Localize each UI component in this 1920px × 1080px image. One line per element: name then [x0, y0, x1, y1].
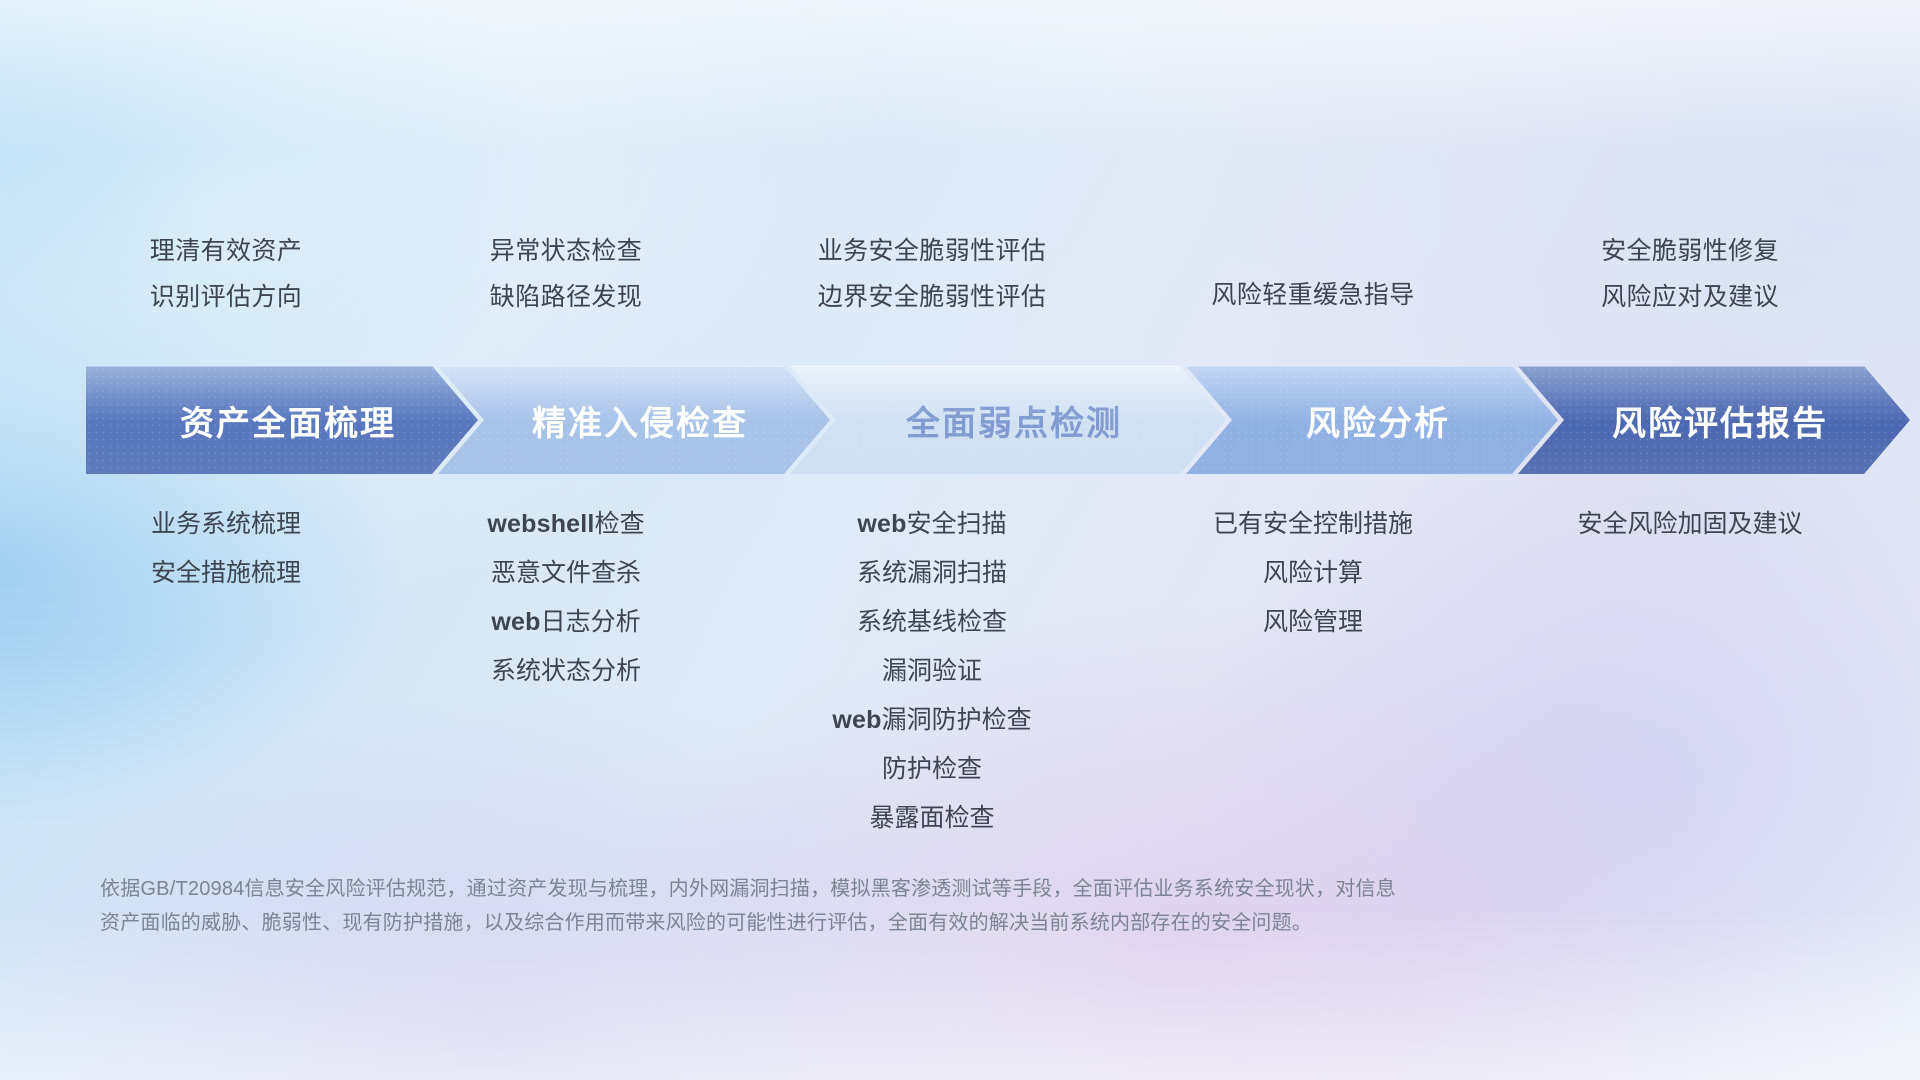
detail-list-item: web安全扫描	[832, 500, 1031, 549]
stage-chevron-intrusion-check[interactable]: 精准入侵检查	[438, 366, 830, 474]
footnote-line-1: 依据GB/T20984信息安全风险评估规范，通过资产发现与梳理，内外网漏洞扫描，…	[100, 872, 1660, 906]
top-caption-item: 识别评估方向	[150, 274, 302, 320]
process-stage-band: 资产全面梳理精准入侵检查全面弱点检测风险分析风险评估报告	[0, 366, 1920, 474]
detail-list-item: 业务系统梳理	[151, 500, 301, 549]
detail-list-weakness-detection: web安全扫描系统漏洞扫描系统基线检查漏洞验证web漏洞防护检查防护检查暴露面检…	[832, 500, 1031, 843]
stage-chevron-weakness-detection[interactable]: 全面弱点检测	[790, 366, 1226, 474]
top-caption-item: 边界安全脆弱性评估	[818, 274, 1047, 320]
detail-list-item: webshell检查	[487, 500, 644, 549]
stage-chevron-asset-inventory[interactable]: 资产全面梳理	[86, 366, 478, 474]
detail-list-item: 系统基线检查	[832, 598, 1031, 647]
detail-item-text: 检查	[595, 510, 645, 538]
detail-list-item: 风险管理	[1213, 598, 1413, 647]
detail-item-text: 安全扫描	[907, 510, 1007, 538]
stage-chevron-assessment-report[interactable]: 风险评估报告	[1518, 366, 1910, 474]
process-diagram: 理清有效资产识别评估方向异常状态检查缺陷路径发现业务安全脆弱性评估边界安全脆弱性…	[0, 0, 1920, 1080]
detail-list-item: 已有安全控制措施	[1213, 500, 1413, 549]
footnote-line-2: 资产面临的威胁、脆弱性、现有防护措施，以及综合作用而带来风险的可能性进行评估，全…	[100, 906, 1660, 940]
detail-item-latin-prefix: web	[857, 510, 906, 538]
detail-item-latin-prefix: webshell	[487, 510, 594, 538]
detail-item-latin-prefix: web	[491, 608, 540, 636]
detail-list-item: web日志分析	[487, 598, 644, 647]
detail-list-item: web漏洞防护检查	[832, 696, 1031, 745]
stage-chevron-risk-analysis[interactable]: 风险分析	[1186, 366, 1558, 474]
detail-list-item: 系统漏洞扫描	[832, 549, 1031, 598]
detail-list-asset-inventory: 业务系统梳理安全措施梳理	[151, 500, 301, 598]
detail-list-item: 恶意文件查杀	[487, 549, 644, 598]
detail-item-text: 漏洞防护检查	[882, 706, 1032, 734]
top-caption-group-weakness-detection: 业务安全脆弱性评估边界安全脆弱性评估	[818, 228, 1047, 320]
top-caption-item: 风险轻重缓急指导	[1211, 272, 1414, 318]
stage-label-weakness-detection: 全面弱点检测	[894, 396, 1122, 445]
top-caption-group-intrusion-check: 异常状态检查缺陷路径发现	[490, 228, 642, 320]
stage-label-asset-inventory: 资产全面梳理	[168, 396, 396, 445]
detail-item-text: 日志分析	[541, 608, 641, 636]
bottom-details-row: 业务系统梳理安全措施梳理webshell检查恶意文件查杀web日志分析系统状态分…	[0, 500, 1920, 860]
stage-label-intrusion-check: 精准入侵检查	[520, 396, 748, 445]
top-caption-item: 业务安全脆弱性评估	[818, 228, 1047, 274]
top-caption-group-asset-inventory: 理清有效资产识别评估方向	[150, 228, 302, 320]
detail-list-item: 系统状态分析	[487, 647, 644, 696]
detail-list-item: 暴露面检查	[832, 794, 1031, 843]
stage-label-assessment-report: 风险评估报告	[1600, 396, 1828, 445]
top-caption-item: 风险应对及建议	[1601, 274, 1779, 320]
detail-list-assessment-report: 安全风险加固及建议	[1577, 500, 1802, 549]
detail-list-risk-analysis: 已有安全控制措施风险计算风险管理	[1213, 500, 1413, 647]
top-caption-item: 异常状态检查	[490, 228, 642, 274]
detail-list-item: 防护检查	[832, 745, 1031, 794]
detail-item-latin-prefix: web	[832, 706, 881, 734]
detail-list-intrusion-check: webshell检查恶意文件查杀web日志分析系统状态分析	[487, 500, 644, 696]
top-caption-item: 缺陷路径发现	[490, 274, 642, 320]
top-caption-group-risk-analysis: 风险轻重缓急指导	[1211, 272, 1414, 318]
detail-list-item: 漏洞验证	[832, 647, 1031, 696]
footnote-paragraph: 依据GB/T20984信息安全风险评估规范，通过资产发现与梳理，内外网漏洞扫描，…	[100, 872, 1660, 940]
top-caption-item: 理清有效资产	[150, 228, 302, 274]
stage-label-risk-analysis: 风险分析	[1294, 396, 1450, 445]
top-caption-item: 安全脆弱性修复	[1601, 228, 1779, 274]
top-caption-group-assessment-report: 安全脆弱性修复风险应对及建议	[1601, 228, 1779, 320]
top-captions-row: 理清有效资产识别评估方向异常状态检查缺陷路径发现业务安全脆弱性评估边界安全脆弱性…	[0, 228, 1920, 348]
detail-list-item: 风险计算	[1213, 549, 1413, 598]
detail-list-item: 安全措施梳理	[151, 549, 301, 598]
detail-list-item: 安全风险加固及建议	[1577, 500, 1802, 549]
